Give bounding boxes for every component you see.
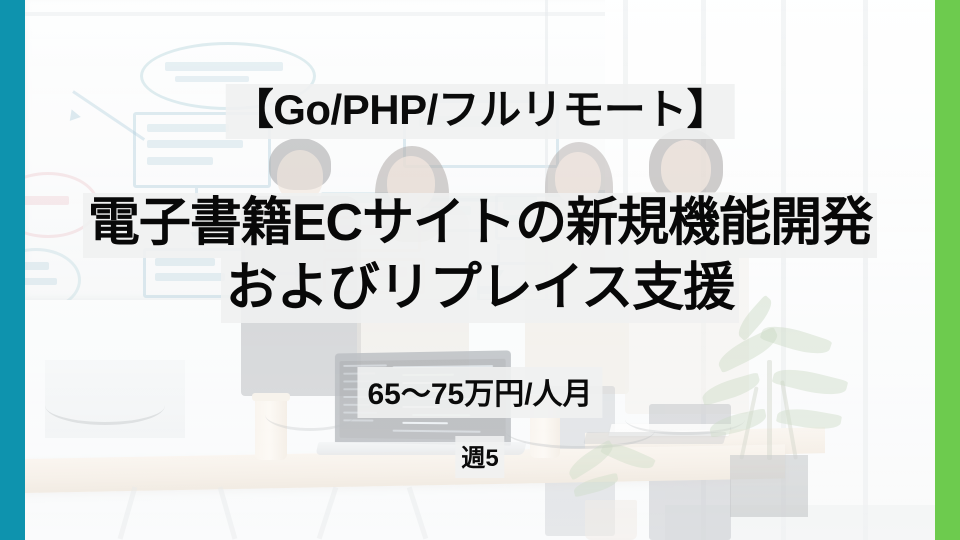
- whiteboard-scribble: [147, 124, 229, 132]
- headline-line-1: 電子書籍ECサイトの新規機能開発: [83, 193, 877, 258]
- plant-stem: [767, 360, 772, 460]
- kicker-tag: 【Go/PHP/フルリモート】: [226, 84, 735, 139]
- whiteboard-arrow-head: [65, 109, 81, 124]
- whiteboard-top-edge: [25, 12, 665, 16]
- whiteboard-scribble: [165, 62, 283, 71]
- whiteboard-scribble: [147, 157, 213, 165]
- desk-cable: [265, 398, 355, 431]
- work-days: 週5: [455, 436, 504, 478]
- whiteboard-scribble: [175, 76, 249, 82]
- desk-cable: [45, 386, 165, 425]
- plant-pot: [730, 455, 808, 517]
- headline: 電子書籍ECサイトの新規機能開発 およびリプレイス支援: [20, 193, 940, 323]
- whiteboard-scribble: [147, 140, 243, 148]
- job-posting-banner: 【Go/PHP/フルリモート】 電子書籍ECサイトの新規機能開発 およびリプレイ…: [0, 0, 960, 540]
- price-rate: 65〜75万円/人月: [357, 367, 602, 418]
- plant-pot: [585, 500, 637, 540]
- headline-line-2: およびリプレイス支援: [221, 258, 739, 323]
